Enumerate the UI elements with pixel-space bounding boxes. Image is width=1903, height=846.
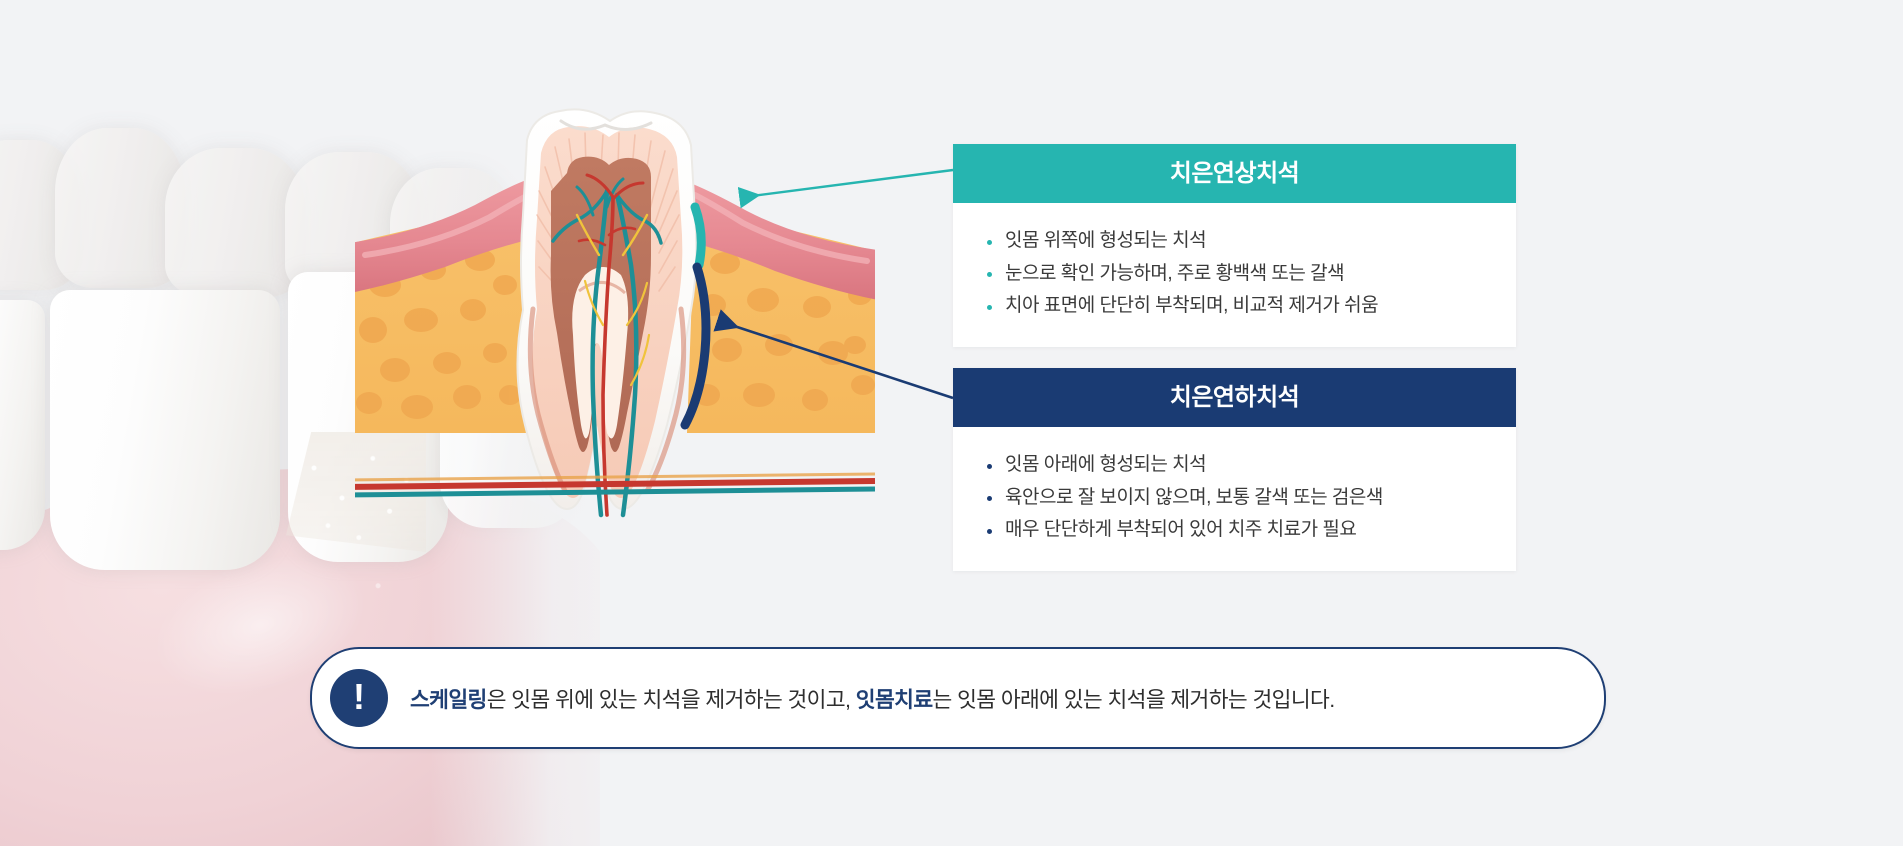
card-subgingival-title: 치은연하치석 [953,368,1516,427]
front-tooth [50,290,280,570]
list-item: 육안으로 잘 보이지 않으며, 보통 갈색 또는 검은색 [1005,482,1490,515]
card-supragingival-calculus: 치은연상치석 잇몸 위쪽에 형성되는 치석 눈으로 확인 가능하며, 주로 황백… [953,144,1516,347]
list-item: 잇몸 아래에 형성되는 치석 [1005,449,1490,482]
list-item: 잇몸 위쪽에 형성되는 치석 [1005,225,1490,258]
subgingival-bullet-list: 잇몸 아래에 형성되는 치석 육안으로 잘 보이지 않으며, 보통 갈색 또는 … [953,449,1516,547]
tooth-cross-section-illustration [355,95,875,525]
summary-notice-text: 스케일링은 잇몸 위에 있는 치석을 제거하는 것이고, 잇몸치료는 잇몸 아래… [410,683,1335,714]
notice-text-part4: 는 잇몸 아래에 있는 치석을 제거하는 것입니다. [933,688,1335,712]
list-item: 매우 단단하게 부착되어 있어 치주 치료가 필요 [1005,514,1490,547]
summary-notice-banner: ! 스케일링은 잇몸 위에 있는 치석을 제거하는 것이고, 잇몸치료는 잇몸 … [310,647,1606,749]
back-tooth [165,148,305,298]
card-subgingival-body: 잇몸 아래에 형성되는 치석 육안으로 잘 보이지 않으며, 보통 갈색 또는 … [953,427,1516,571]
list-item: 치아 표면에 단단히 부착되며, 비교적 제거가 쉬움 [1005,290,1490,323]
notice-term-gum-treatment: 잇몸치료 [856,688,933,712]
supragingival-bullet-list: 잇몸 위쪽에 형성되는 치석 눈으로 확인 가능하며, 주로 황백색 또는 갈색… [953,225,1516,323]
notice-term-scaling: 스케일링 [410,688,487,712]
infographic-canvas: 치은연상치석 잇몸 위쪽에 형성되는 치석 눈으로 확인 가능하며, 주로 황백… [0,0,1903,846]
card-supragingival-title: 치은연상치석 [953,144,1516,203]
list-item: 눈으로 확인 가능하며, 주로 황백색 또는 갈색 [1005,258,1490,291]
basal-vessel-band [355,474,875,495]
exclamation-icon: ! [330,669,388,727]
card-subgingival-calculus: 치은연하치석 잇몸 아래에 형성되는 치석 육안으로 잘 보이지 않으며, 보통… [953,368,1516,571]
front-tooth [0,300,45,550]
card-supragingival-body: 잇몸 위쪽에 형성되는 치석 눈으로 확인 가능하며, 주로 황백색 또는 갈색… [953,203,1516,347]
notice-text-part2: 은 잇몸 위에 있는 치석을 제거하는 것이고, [487,688,856,712]
